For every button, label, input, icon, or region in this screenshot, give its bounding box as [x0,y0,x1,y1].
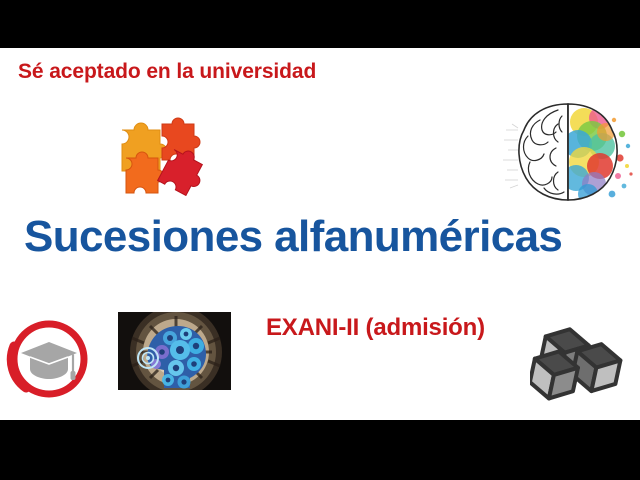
graduation-cap-logo [6,316,92,402]
exam-label: EXANI-II (admisión) [266,314,485,342]
letterbox-bottom [0,420,640,480]
page-title: Sucesiones alfanuméricas [24,212,562,262]
brain-hemispheres-icon [500,100,636,204]
letterbox-top [0,0,640,48]
clock-brain-photo [118,312,231,390]
isometric-cubes-icon [530,306,630,410]
puzzle-pieces-icon [112,108,208,196]
slide-canvas: Sé aceptado en la universidad [0,48,640,420]
kicker-text: Sé aceptado en la universidad [18,60,316,84]
video-frame: Sé aceptado en la universidad [0,0,640,480]
